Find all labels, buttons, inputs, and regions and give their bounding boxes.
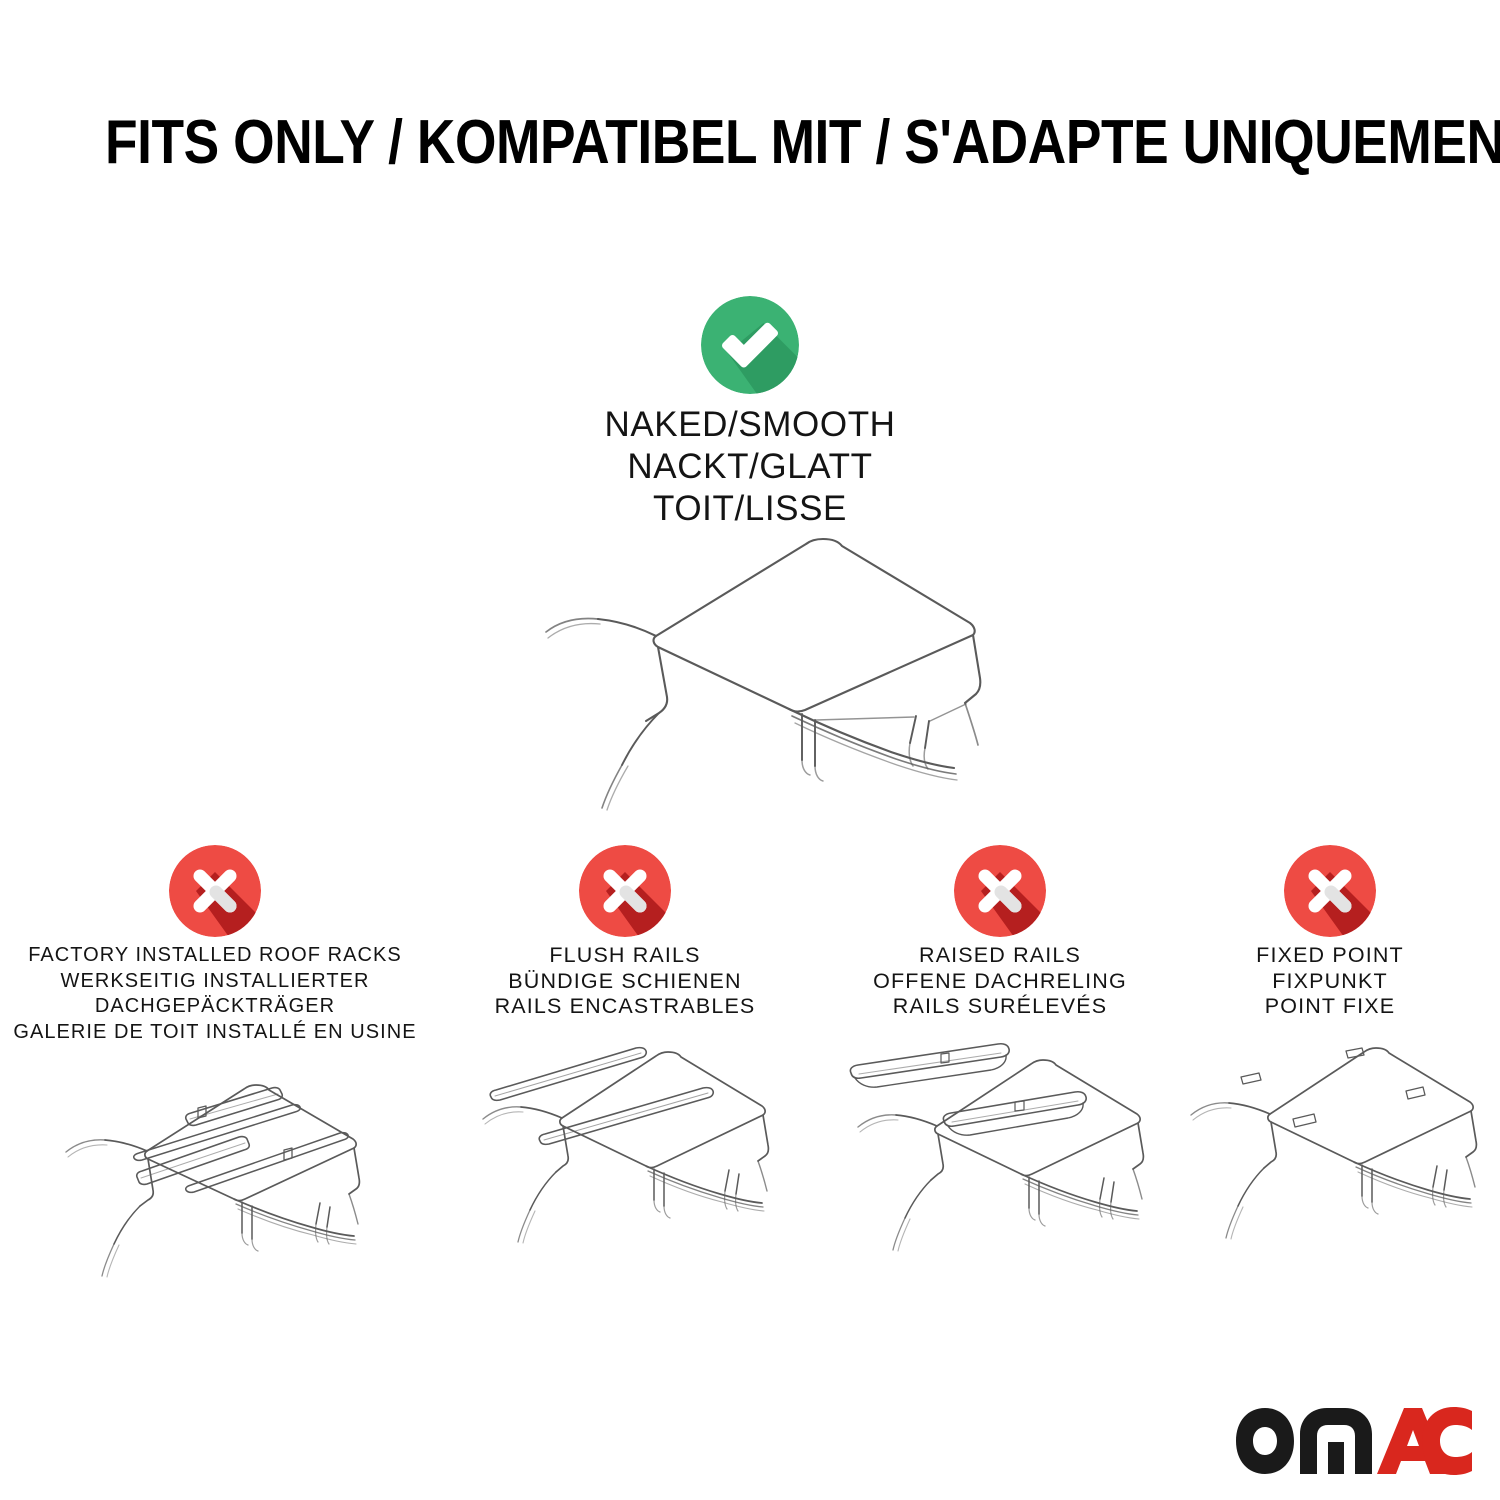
compatible-roof-section: NAKED/SMOOTH NACKT/GLATT TOIT/LISSE xyxy=(0,296,1500,530)
incompatible-label-1: FLUSH RAILS BÜNDIGE SCHIENEN RAILS ENCAS… xyxy=(440,943,810,1020)
raised-rails-illustration xyxy=(815,1036,1185,1271)
x-icon-wrap-0 xyxy=(10,845,420,943)
label-line-de: OFFENE DACHRELING xyxy=(815,969,1185,995)
page-title: FITS ONLY / KOMPATIBEL MIT / S'ADAPTE UN… xyxy=(105,106,1395,180)
omac-logo: OMAC xyxy=(1232,1404,1476,1480)
smooth-roof-svg xyxy=(470,528,1030,818)
label-line-de: FIXPUNKT xyxy=(1180,969,1480,995)
x-icon-wrap-2 xyxy=(815,845,1185,943)
x-icon-wrap-1 xyxy=(440,845,810,943)
incompatible-roof-row: FACTORY INSTALLED ROOF RACKS WERKSEITIG … xyxy=(0,845,1500,1485)
label-line-fr: RAILS ENCASTRABLES xyxy=(440,994,810,1020)
compatible-label-line-en: NAKED/SMOOTH xyxy=(0,404,1500,446)
x-circle-svg xyxy=(169,845,261,937)
raised-rails-svg xyxy=(815,1036,1190,1266)
x-icon-wrap-3 xyxy=(1180,845,1480,943)
incompatible-item-flush-rails: FLUSH RAILS BÜNDIGE SCHIENEN RAILS ENCAS… xyxy=(440,845,810,1271)
label-line-fr: POINT FIXE xyxy=(1180,994,1480,1020)
x-circle-svg xyxy=(1284,845,1376,937)
fixed-point-svg xyxy=(1180,1036,1500,1266)
incompatible-label-3: FIXED POINT FIXPUNKT POINT FIXE xyxy=(1180,943,1480,1020)
omac-logo-svg xyxy=(1232,1404,1476,1480)
roof-rack-illustration xyxy=(10,1061,420,1296)
x-circle-icon xyxy=(1284,845,1376,937)
label-line-en: RAISED RAILS xyxy=(815,943,1185,969)
roof-rack-svg xyxy=(20,1061,410,1291)
incompatible-label-2: RAISED RAILS OFFENE DACHRELING RAILS SUR… xyxy=(815,943,1185,1020)
incompatible-label-0: FACTORY INSTALLED ROOF RACKS WERKSEITIG … xyxy=(10,943,420,1045)
label-line-de-1: WERKSEITIG INSTALLIERTER xyxy=(10,969,420,995)
label-line-de: BÜNDIGE SCHIENEN xyxy=(440,969,810,995)
compatible-icon-wrap xyxy=(0,296,1500,404)
compatible-label-line-de: NACKT/GLATT xyxy=(0,446,1500,488)
label-line-en: FIXED POINT xyxy=(1180,943,1480,969)
x-circle-icon xyxy=(954,845,1046,937)
smooth-roof-illustration xyxy=(0,528,1500,823)
label-line-de-2: DACHGEPÄCKTRÄGER xyxy=(10,994,420,1020)
label-line-fr: GALERIE DE TOIT INSTALLÉ EN USINE xyxy=(10,1020,420,1046)
compatible-label-line-fr: TOIT/LISSE xyxy=(0,488,1500,530)
x-circle-icon xyxy=(169,845,261,937)
fixed-point-illustration xyxy=(1180,1036,1480,1271)
label-line-en: FACTORY INSTALLED ROOF RACKS xyxy=(10,943,420,969)
x-circle-icon xyxy=(579,845,671,937)
compatible-label: NAKED/SMOOTH NACKT/GLATT TOIT/LISSE xyxy=(0,404,1500,530)
incompatible-item-factory-roof-racks: FACTORY INSTALLED ROOF RACKS WERKSEITIG … xyxy=(10,845,420,1296)
incompatible-item-fixed-point: FIXED POINT FIXPUNKT POINT FIXE xyxy=(1180,845,1480,1271)
x-circle-svg xyxy=(579,845,671,937)
x-circle-svg xyxy=(954,845,1046,937)
check-circle-icon xyxy=(701,296,799,394)
label-line-en: FLUSH RAILS xyxy=(440,943,810,969)
label-line-fr: RAILS SURÉLEVÉS xyxy=(815,994,1185,1020)
flush-rails-illustration xyxy=(440,1036,810,1271)
flush-rails-svg xyxy=(440,1036,815,1266)
incompatible-item-raised-rails: RAISED RAILS OFFENE DACHRELING RAILS SUR… xyxy=(815,845,1185,1271)
check-circle-svg xyxy=(701,296,799,394)
